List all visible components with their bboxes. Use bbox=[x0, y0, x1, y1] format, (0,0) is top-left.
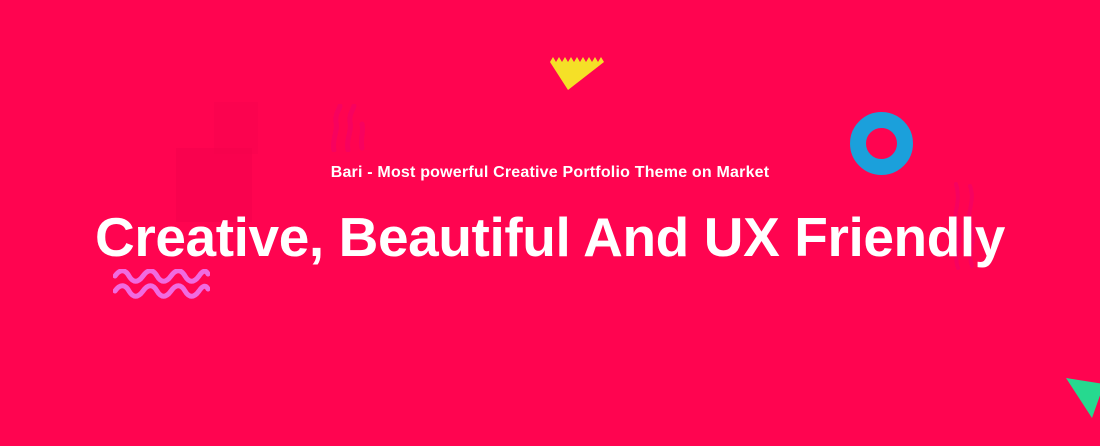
faint-wave-mark-icon bbox=[326, 104, 370, 152]
pink-wave-lines-icon bbox=[113, 269, 210, 299]
yellow-serrated-triangle-icon bbox=[548, 54, 604, 92]
faint-background-blob bbox=[214, 102, 258, 154]
hero-subtitle: Bari - Most powerful Creative Portfolio … bbox=[0, 163, 1100, 183]
green-triangle-icon bbox=[1066, 376, 1100, 418]
hero-banner: Bari - Most powerful Creative Portfolio … bbox=[0, 0, 1100, 446]
hero-headline: Creative, Beautiful And UX Friendly bbox=[0, 204, 1100, 270]
